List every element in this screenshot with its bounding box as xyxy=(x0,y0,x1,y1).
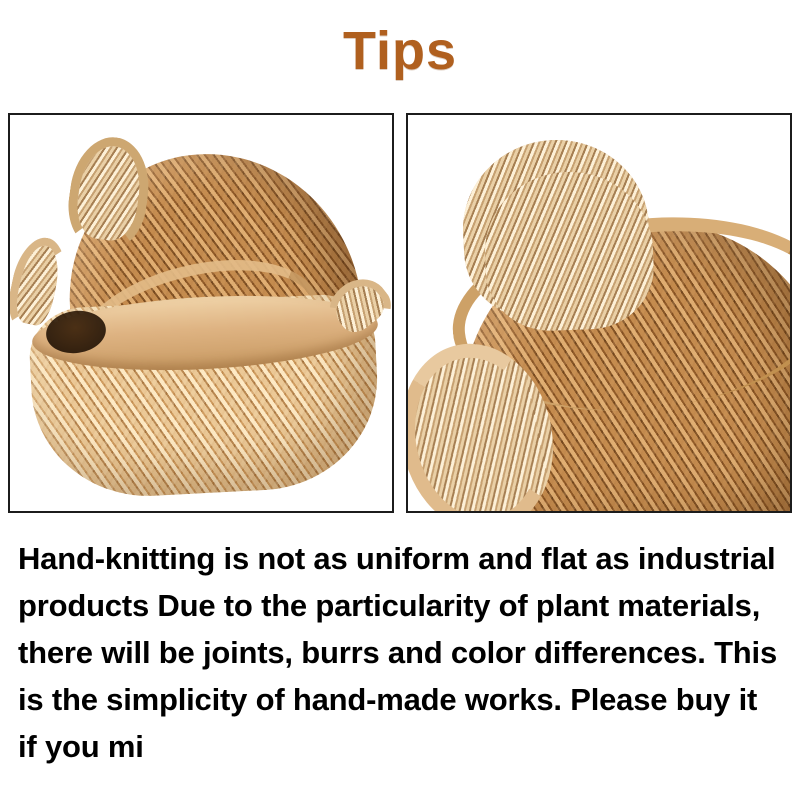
tips-paragraph-line: there will be joints, burrs and color di… xyxy=(18,629,790,676)
photo-panel-right xyxy=(406,113,792,513)
product-photo-gallery xyxy=(8,113,792,513)
photo-panel-left xyxy=(8,113,394,513)
tips-paragraph-line: products Due to the particularity of pla… xyxy=(18,582,790,629)
nested-seagrass-baskets-photo xyxy=(10,115,392,511)
page-title: Tips xyxy=(343,22,457,80)
tips-paragraph-line: is the simplicity of hand-made works. Pl… xyxy=(18,676,790,723)
basket-weave-closeup-photo xyxy=(408,115,790,511)
tips-paragraph: Hand-knitting is not as uniform and flat… xyxy=(18,535,790,770)
tips-infographic-page: Tips xyxy=(0,0,800,800)
tips-paragraph-line: if you mi xyxy=(18,723,790,770)
page-title-bar: Tips xyxy=(0,22,800,80)
tips-paragraph-line: Hand-knitting is not as uniform and flat… xyxy=(18,535,790,582)
